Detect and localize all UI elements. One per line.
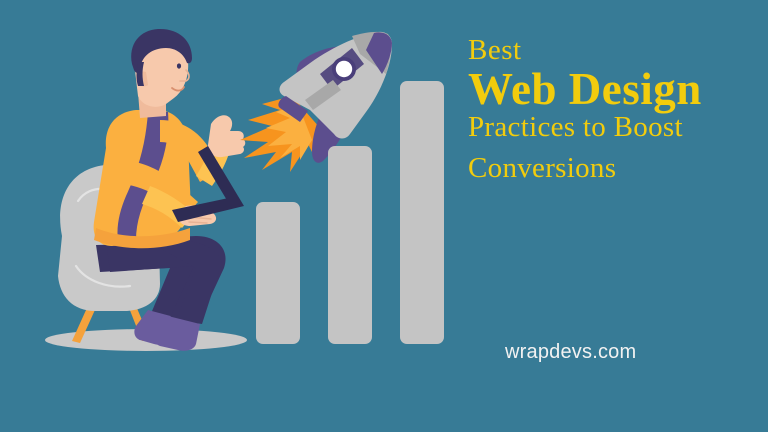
headline-block: Best Web Design Practices to Boost Conve…	[468, 36, 760, 183]
banner: Best Web Design Practices to Boost Conve…	[0, 0, 768, 432]
headline-line-3: Practices to Boost	[468, 113, 760, 142]
rocket-window	[336, 61, 352, 77]
headline-line-4: Conversions	[468, 154, 760, 183]
headline-line-2: Web Design	[468, 67, 760, 112]
eye	[177, 63, 181, 68]
chart-bar-3	[400, 81, 444, 344]
site-url-text: wrapdevs.com	[505, 341, 636, 364]
headline-line-1: Best	[468, 36, 760, 65]
chart-bar-2	[328, 146, 372, 344]
hand-raised	[208, 115, 245, 157]
chart-bar-1	[256, 202, 300, 344]
